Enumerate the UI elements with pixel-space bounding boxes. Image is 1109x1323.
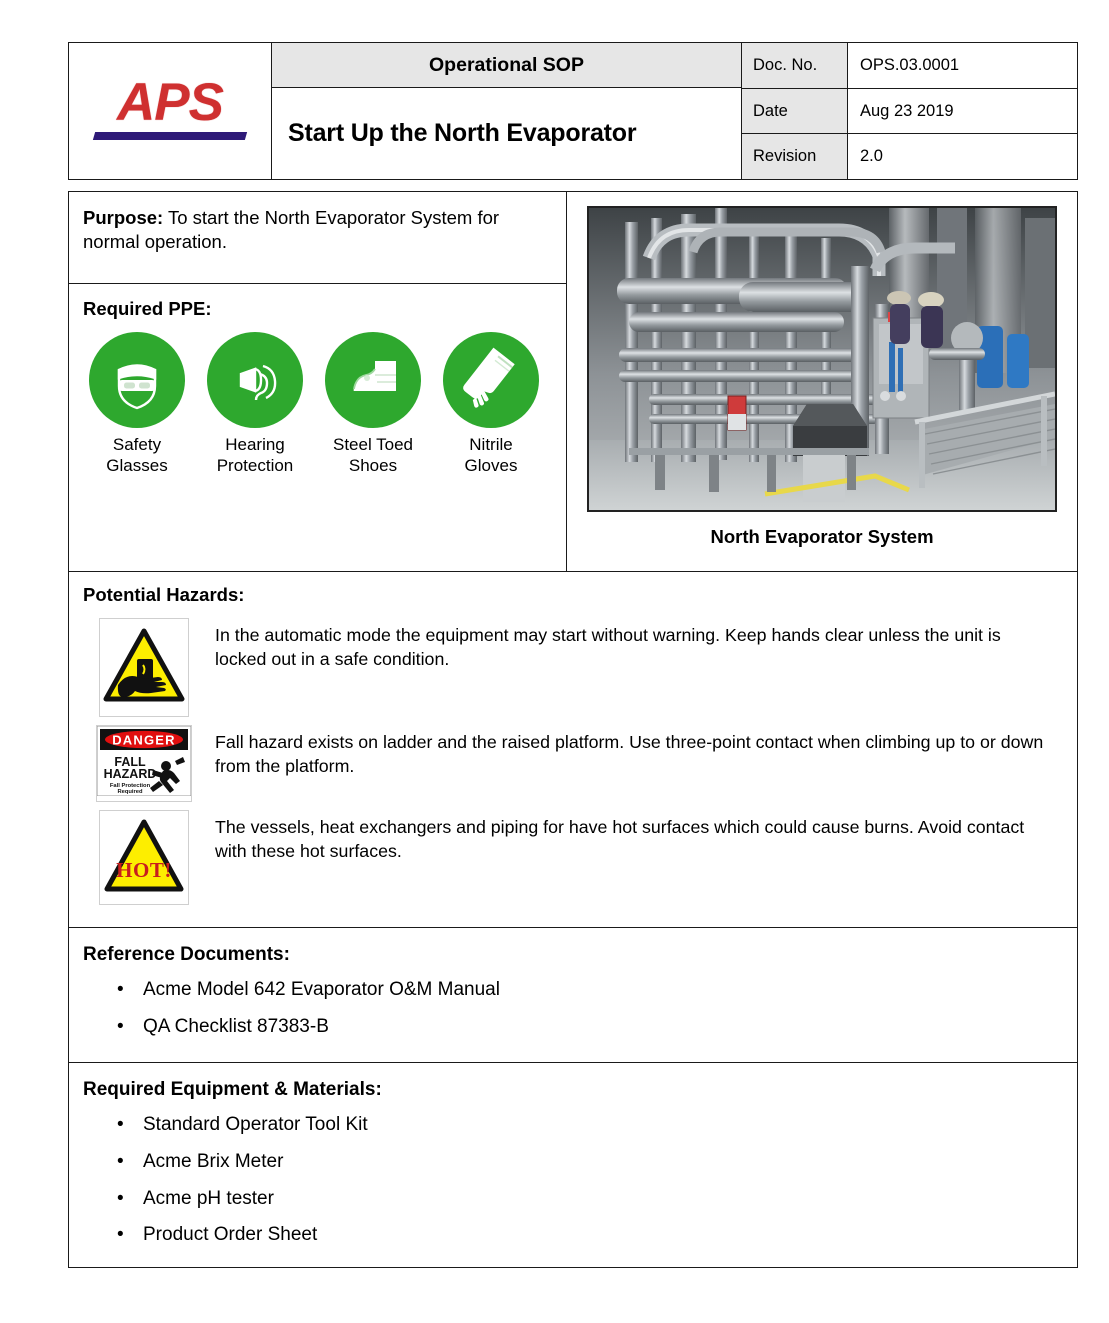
list-item: Acme Brix Meter <box>143 1144 1061 1181</box>
ppe-label-line2: Glasses <box>89 456 185 477</box>
sop-type-label: Operational SOP <box>272 43 741 88</box>
hazard-icon-cell: HOT! <box>83 810 189 905</box>
logo-underline-bar <box>93 132 247 140</box>
ppe-item-nitrile-gloves: Nitrile Gloves <box>443 332 539 476</box>
hazards-title: Potential Hazards: <box>83 584 1061 606</box>
reference-documents-section: Reference Documents: Acme Model 642 Evap… <box>69 928 1077 1063</box>
ppe-block: Required PPE: <box>69 284 566 571</box>
ppe-label-line1: Steel Toed <box>325 435 421 456</box>
ppe-label-line2: Gloves <box>443 456 539 477</box>
purpose-block: Purpose: To start the North Evaporator S… <box>69 192 566 284</box>
ppe-label-line1: Nitrile <box>443 435 539 456</box>
photo-column: North Evaporator System <box>567 192 1077 571</box>
hazard-row-hot: HOT! The vessels, heat exchangers and pi… <box>83 810 1061 905</box>
ppe-label-hearing-protection: Hearing Protection <box>207 435 303 476</box>
hazard-icon-cell: DANGER FALL HAZARD Fall Protection Requi… <box>83 725 189 802</box>
ppe-icon-row: Safety Glasses <box>83 332 556 476</box>
nitrile-gloves-icon <box>443 332 539 428</box>
hearing-protection-icon <box>207 332 303 428</box>
photo-caption: North Evaporator System <box>710 526 933 548</box>
meta-value-revision: 2.0 <box>848 134 1077 179</box>
document-body-table: Purpose: To start the North Evaporator S… <box>68 191 1078 1268</box>
meta-key-revision: Revision <box>742 134 848 179</box>
meta-value-doc-no: OPS.03.0001 <box>848 43 1077 88</box>
company-logo-cell: APS <box>69 43 272 179</box>
hazard-text-hot: The vessels, heat exchangers and piping … <box>189 810 1061 863</box>
meta-row-revision: Revision 2.0 <box>742 134 1077 179</box>
document-header-table: APS Operational SOP Start Up the North E… <box>68 42 1078 180</box>
meta-key-doc-no: Doc. No. <box>742 43 848 88</box>
crush-hand-warning-sign <box>99 618 189 717</box>
list-item: Standard Operator Tool Kit <box>143 1107 1061 1144</box>
hazard-text-crush: In the automatic mode the equipment may … <box>189 618 1061 671</box>
title-cell-group: Operational SOP Start Up the North Evapo… <box>272 43 742 179</box>
purpose-ppe-photo-section: Purpose: To start the North Evaporator S… <box>69 192 1077 572</box>
sop-document-page: APS Operational SOP Start Up the North E… <box>0 0 1109 1323</box>
hazard-word: HAZARD <box>104 767 157 781</box>
purpose-label: Purpose: <box>83 207 163 228</box>
list-item: QA Checklist 87383-B <box>143 1009 1061 1046</box>
document-meta-table: Doc. No. OPS.03.0001 Date Aug 23 2019 Re… <box>742 43 1077 179</box>
meta-row-doc-no: Doc. No. OPS.03.0001 <box>742 43 1077 89</box>
hazard-icon-cell <box>83 618 189 717</box>
meta-value-date: Aug 23 2019 <box>848 89 1077 134</box>
ppe-item-hearing-protection: Hearing Protection <box>207 332 303 476</box>
reference-documents-list: Acme Model 642 Evaporator O&M Manual QA … <box>83 972 1061 1046</box>
meta-key-date: Date <box>742 89 848 134</box>
danger-word: DANGER <box>112 733 176 748</box>
ppe-label-steel-toed-shoes: Steel Toed Shoes <box>325 435 421 476</box>
document-title: Start Up the North Evaporator <box>272 88 741 179</box>
meta-row-date: Date Aug 23 2019 <box>742 89 1077 135</box>
required-line: Required <box>117 789 143 795</box>
required-equipment-section: Required Equipment & Materials: Standard… <box>69 1063 1077 1271</box>
steel-toed-shoes-icon <box>325 332 421 428</box>
ppe-label-line2: Protection <box>207 456 303 477</box>
hot-surface-warning-sign: HOT! <box>99 810 189 905</box>
hot-label: HOT! <box>116 858 172 882</box>
hazard-row-fall: DANGER FALL HAZARD Fall Protection Requi… <box>83 725 1061 802</box>
logo-text: APS <box>94 78 246 128</box>
ppe-label-line1: Hearing <box>207 435 303 456</box>
danger-fall-hazard-sign: DANGER FALL HAZARD Fall Protection Requi… <box>96 725 192 802</box>
safety-glasses-icon <box>89 332 185 428</box>
ppe-title: Required PPE: <box>83 298 556 320</box>
ppe-item-safety-glasses: Safety Glasses <box>89 332 185 476</box>
reference-documents-title: Reference Documents: <box>83 944 1061 966</box>
aps-logo: APS <box>94 78 246 143</box>
required-equipment-list: Standard Operator Tool Kit Acme Brix Met… <box>83 1107 1061 1255</box>
north-evaporator-system-photo <box>587 206 1057 512</box>
hazard-text-fall: Fall hazard exists on ladder and the rai… <box>189 725 1061 778</box>
required-equipment-title: Required Equipment & Materials: <box>83 1079 1061 1101</box>
potential-hazards-section: Potential Hazards: In the automatic mode… <box>69 572 1077 928</box>
list-item: Acme pH tester <box>143 1181 1061 1218</box>
ppe-label-line2: Shoes <box>325 456 421 477</box>
purpose-ppe-column: Purpose: To start the North Evaporator S… <box>69 192 567 571</box>
ppe-item-steel-toed-shoes: Steel Toed Shoes <box>325 332 421 476</box>
ppe-label-line1: Safety <box>89 435 185 456</box>
ppe-label-safety-glasses: Safety Glasses <box>89 435 185 476</box>
list-item: Product Order Sheet <box>143 1217 1061 1254</box>
list-item: Acme Model 642 Evaporator O&M Manual <box>143 972 1061 1009</box>
ppe-label-nitrile-gloves: Nitrile Gloves <box>443 435 539 476</box>
hazard-row-crush: In the automatic mode the equipment may … <box>83 618 1061 717</box>
